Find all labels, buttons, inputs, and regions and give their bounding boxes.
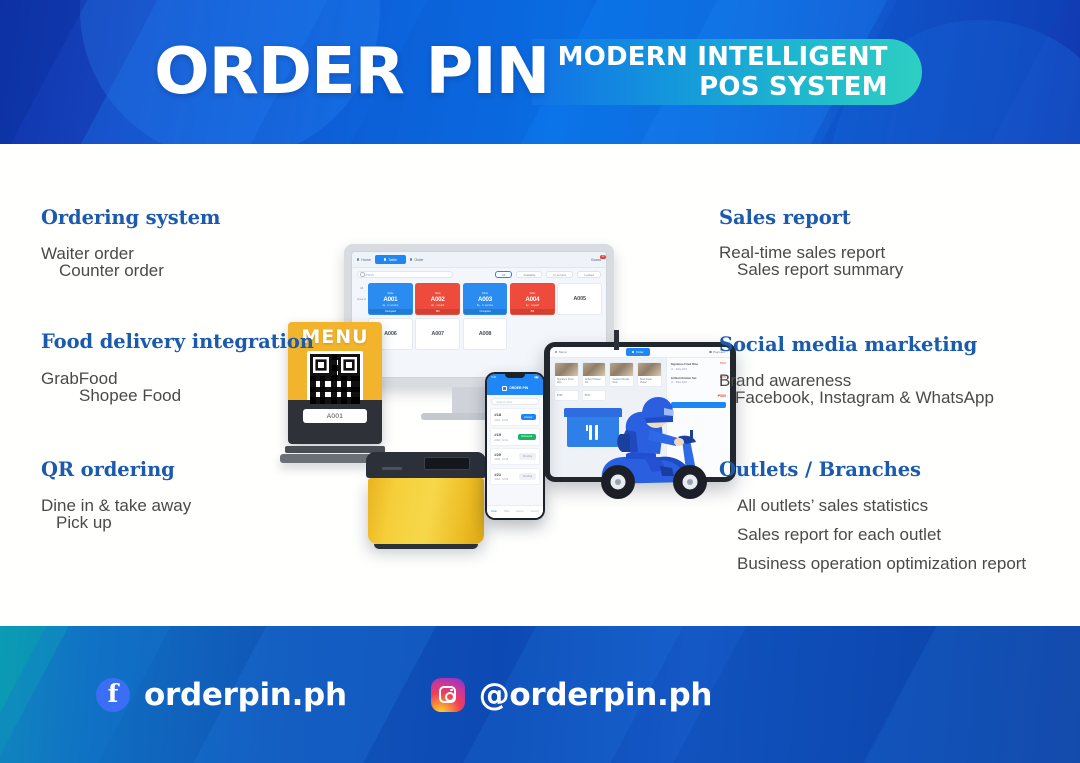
order-id: #20 bbox=[494, 452, 508, 457]
feature-item: Pick up bbox=[56, 514, 191, 531]
order-meta: x2 · Table A001 bbox=[671, 368, 726, 371]
app-title: ORDER PIN bbox=[509, 386, 528, 390]
logo-block: ORDER PIN MODERN INTELLIGENT POS SYSTEM bbox=[0, 0, 1080, 144]
order-meta: A002 · 12:11 bbox=[494, 439, 508, 442]
table-tile[interactable]: A008 bbox=[463, 318, 508, 350]
printer-paper-slot bbox=[424, 457, 470, 470]
feature-item: Dine in & take away bbox=[41, 497, 191, 514]
order-status-chip[interactable]: Pending bbox=[519, 473, 535, 480]
feature-item: Waiter order bbox=[41, 245, 220, 262]
feature-item: Brand awareness bbox=[719, 372, 994, 389]
pos-toolbar: Search All Available In service Locked bbox=[352, 268, 606, 281]
status-icons: ▮▮▮ bbox=[534, 376, 538, 379]
contact-facebook[interactable]: f orderpin.ph bbox=[96, 677, 347, 713]
pos-table-grid: Table A001 4p · in service Occupied Tabl… bbox=[368, 283, 602, 350]
poster-canvas: ORDER PIN MODERN INTELLIGENT POS SYSTEM … bbox=[0, 0, 1080, 763]
phone-tab-report[interactable]: Report bbox=[516, 510, 523, 513]
app-header: ORDER PIN bbox=[487, 381, 542, 395]
filter-in-service[interactable]: In service bbox=[546, 271, 573, 278]
order-id: #19 bbox=[494, 432, 508, 437]
pos-nav-home[interactable]: Home bbox=[357, 258, 371, 262]
menu-icon bbox=[555, 351, 557, 353]
tablet-navbar: Menu Order Payment bbox=[550, 347, 730, 358]
phone-tab-account[interactable]: Account bbox=[530, 510, 539, 513]
instagram-icon bbox=[431, 678, 465, 712]
feature-item: GrabFood bbox=[41, 370, 314, 387]
menu-card[interactable]: Signature Fried Rice bbox=[554, 362, 579, 387]
tablet-stand bbox=[614, 330, 619, 350]
order-id: #21 bbox=[494, 472, 508, 477]
order-name: Signature Fried Rice bbox=[671, 362, 726, 366]
feature-item: Sales report summary bbox=[737, 261, 903, 278]
food-thumbnail bbox=[610, 363, 633, 376]
app-logo-icon bbox=[502, 386, 507, 391]
pos-nav-table[interactable]: Table bbox=[375, 255, 406, 264]
order-meta: A003 · 12:18 bbox=[494, 458, 508, 461]
qr-table-number: A001 bbox=[303, 409, 367, 423]
area-filter-all[interactable]: All bbox=[355, 286, 368, 290]
table-tile[interactable]: Table A003 6p · in service Occupied bbox=[463, 283, 508, 315]
pos-navbar: Home Table Order Board bbox=[352, 252, 606, 268]
delivery-scooter-rider-icon bbox=[586, 394, 716, 502]
phone-search-input[interactable]: Search order bbox=[491, 398, 538, 405]
area-filter-a[interactable]: Area A bbox=[355, 297, 368, 301]
order-status-chip[interactable]: Accept bbox=[521, 414, 536, 421]
order-status-chip[interactable]: Delivered bbox=[518, 434, 536, 441]
feature-heading: Outlets / Branches bbox=[719, 458, 1026, 481]
feature-item: All outlets’ sales statistics bbox=[737, 497, 1026, 514]
table-tile[interactable]: Table A002 2p · unpaid Bill bbox=[415, 283, 460, 315]
tablet-nav-menu[interactable]: Menu bbox=[555, 350, 567, 354]
table-tile[interactable]: A007 bbox=[415, 318, 460, 350]
food-thumbnail bbox=[583, 363, 606, 376]
footer-contact-bar: ☎ +63 9167606553 f orderpin.ph @orderpin… bbox=[0, 626, 1080, 763]
pos-nav-order[interactable]: Order bbox=[410, 258, 424, 262]
feature-item: Business operation optimization report bbox=[737, 555, 1026, 572]
feature-heading: QR ordering bbox=[41, 458, 191, 481]
phone-screen: 9:41 ▮▮▮ ORDER PIN Search order #18 A001… bbox=[487, 374, 542, 517]
printer-body bbox=[368, 478, 484, 544]
feature-heading: Food delivery integration bbox=[41, 330, 314, 353]
qr-code-icon bbox=[307, 351, 363, 407]
menu-card[interactable]: Beef Steak Platter bbox=[637, 362, 662, 387]
phone-tab-bar: Order Table Report Account bbox=[487, 505, 542, 518]
phone-order-row[interactable]: #20 A003 · 12:18 Pending bbox=[490, 448, 539, 465]
feature-heading: Sales report bbox=[719, 206, 903, 229]
feature-group-food-delivery-integration: Food delivery integration GrabFood Shope… bbox=[41, 330, 314, 404]
tablet-nav-order[interactable]: Order bbox=[626, 348, 650, 356]
menu-card-price: ₱180 bbox=[555, 391, 578, 400]
phone-order-list: #18 A001 · 12:04 Accept #19 A002 · 12:11… bbox=[487, 408, 542, 485]
phone-order-row[interactable]: #21 A004 · 12:25 Pending bbox=[490, 468, 539, 485]
tagline-line-1: MODERN INTELLIGENT bbox=[558, 42, 888, 72]
menu-card[interactable]: Grilled Chicken Set bbox=[582, 362, 607, 387]
feature-group-sales-report: Sales report Real-time sales report Sale… bbox=[719, 206, 903, 278]
tagline-pill: MODERN INTELLIGENT POS SYSTEM bbox=[532, 39, 922, 105]
order-name: Grilled Chicken Set bbox=[671, 376, 726, 380]
order-meta: A001 · 12:04 bbox=[494, 419, 508, 422]
notification-badge: 12 bbox=[600, 255, 606, 259]
feature-group-outlets-branches: Outlets / Branches All outlets’ sales st… bbox=[719, 458, 1026, 572]
filter-available[interactable]: Available bbox=[516, 271, 542, 278]
phone-tab-table[interactable]: Table bbox=[504, 510, 510, 513]
phone-notch bbox=[505, 374, 525, 378]
pos-search-input[interactable]: Search bbox=[357, 271, 453, 278]
feature-group-social-media-marketing: Social media marketing Brand awareness F… bbox=[719, 333, 994, 406]
device-showcase: Home Table Order Board bbox=[270, 230, 740, 570]
feature-item: Counter order bbox=[59, 262, 220, 279]
feature-heading: Social media marketing bbox=[719, 333, 994, 356]
pos-nav-board[interactable]: Board 12 bbox=[591, 258, 601, 262]
smartphone-app: 9:41 ▮▮▮ ORDER PIN Search order #18 A001… bbox=[485, 372, 545, 520]
menu-card-name: Grilled Chicken Set bbox=[583, 376, 606, 386]
tagline-line-2: POS SYSTEM bbox=[699, 72, 888, 102]
table-tile[interactable]: Table A001 4p · in service Occupied bbox=[368, 283, 413, 315]
order-status-chip[interactable]: Pending bbox=[519, 453, 535, 460]
food-thumbnail bbox=[555, 363, 578, 376]
menu-card[interactable]: Seafood Noodle Soup bbox=[609, 362, 634, 387]
printer-base bbox=[374, 544, 478, 549]
table-tile[interactable]: Table A004 4p · unpaid Bill bbox=[510, 283, 555, 315]
phone-order-row[interactable]: #18 A001 · 12:04 Accept bbox=[490, 408, 539, 425]
menu-card[interactable]: ₱180 bbox=[554, 390, 579, 401]
feature-item: Shopee Food bbox=[79, 387, 314, 404]
order-icon bbox=[410, 258, 412, 260]
facebook-icon: f bbox=[96, 678, 130, 712]
order-line-item: ₱360 Signature Fried Rice x2 · Table A00… bbox=[671, 362, 726, 371]
menu-card-name: Seafood Noodle Soup bbox=[610, 376, 633, 386]
contact-instagram[interactable]: @orderpin.ph bbox=[431, 677, 712, 713]
home-icon bbox=[357, 258, 359, 260]
menu-card-name: Beef Steak Platter bbox=[638, 376, 661, 386]
filter-locked[interactable]: Locked bbox=[577, 271, 601, 278]
feature-group-qr-ordering: QR ordering Dine in & take away Pick up bbox=[41, 458, 191, 531]
phone-order-row[interactable]: #19 A002 · 12:11 Delivered bbox=[490, 428, 539, 445]
feature-item: Facebook, Instagram & WhatsApp bbox=[735, 389, 994, 406]
table-tile[interactable]: A005 bbox=[557, 283, 602, 315]
phone-tab-order[interactable]: Order bbox=[491, 510, 497, 513]
status-time: 9:41 bbox=[491, 376, 496, 379]
order-line-item: ₱220 Grilled Chicken Set x1 · Table A001 bbox=[671, 376, 726, 385]
filter-all[interactable]: All bbox=[495, 271, 512, 278]
order-icon bbox=[632, 351, 634, 353]
facebook-handle: orderpin.ph bbox=[144, 677, 347, 713]
header-banner: ORDER PIN MODERN INTELLIGENT POS SYSTEM bbox=[0, 0, 1080, 144]
feature-heading: Ordering system bbox=[41, 206, 220, 229]
feature-group-ordering-system: Ordering system Waiter order Counter ord… bbox=[41, 206, 220, 279]
order-meta: A004 · 12:25 bbox=[494, 478, 508, 481]
feature-item: Real-time sales report bbox=[719, 244, 903, 261]
receipt-printer bbox=[366, 452, 486, 550]
menu-card-name: Signature Fried Rice bbox=[555, 376, 578, 386]
payment-icon bbox=[709, 351, 711, 353]
order-meta: x1 · Table A001 bbox=[671, 381, 726, 384]
feature-item: Sales report for each outlet bbox=[737, 526, 1026, 543]
printer-top-cover bbox=[366, 452, 486, 478]
table-icon bbox=[384, 258, 386, 260]
food-thumbnail bbox=[638, 363, 661, 376]
pos-table-area: All Area A Table A001 4p · in service Oc… bbox=[352, 281, 606, 350]
printer-led-strip bbox=[382, 467, 402, 470]
order-id: #18 bbox=[494, 412, 508, 417]
instagram-handle: @orderpin.ph bbox=[479, 677, 712, 713]
brand-title: ORDER PIN bbox=[154, 40, 549, 104]
